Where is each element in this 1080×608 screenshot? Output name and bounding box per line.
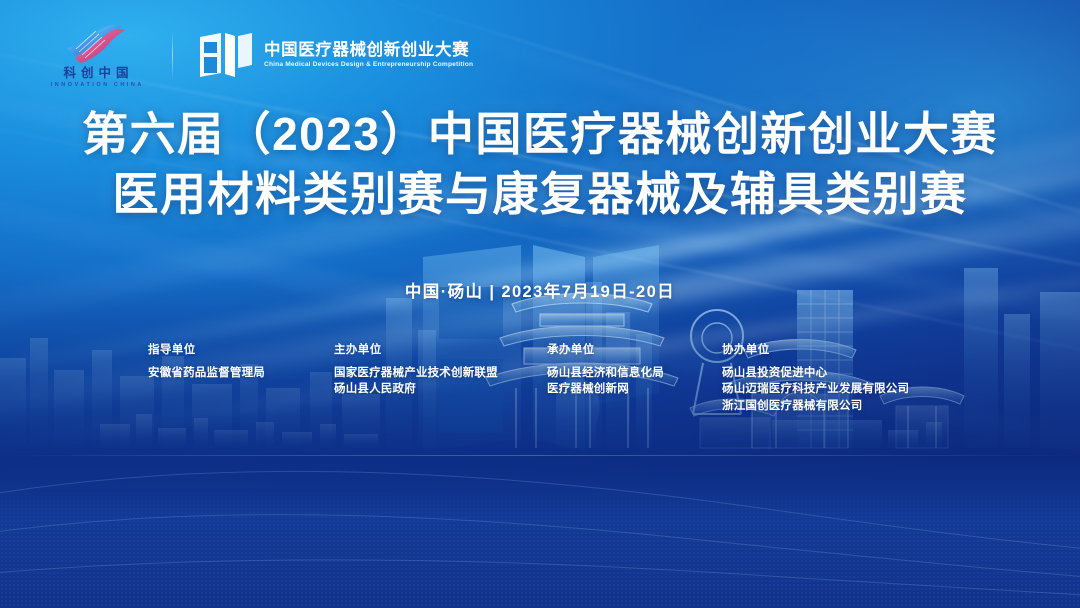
organizer-column-organizer: 承办单位 砀山县经济和信息化局 医疗器械创新网 — [547, 345, 722, 414]
logo-kechuang-cn-text: 科创中国 — [58, 67, 133, 80]
organizer-item: 砀山县投资促进中心 — [722, 365, 909, 382]
organizer-column-guidance: 指导单位 安徽省药品监督管理局 — [148, 345, 334, 414]
organizer-item: 国家医疗器械产业技术创新联盟 — [334, 365, 547, 382]
organizer-column-host: 主办单位 国家医疗器械产业技术创新联盟 砀山县人民政府 — [334, 345, 547, 414]
organizer-item: 砀山迈瑞医疗科技产业发展有限公司 — [722, 381, 909, 398]
organizer-columns: 指导单位 安徽省药品监督管理局 主办单位 国家医疗器械产业技术创新联盟 砀山县人… — [148, 345, 1020, 414]
logo-competition[interactable]: 中国医疗器械创新创业大赛 China Medical Devices Desig… — [199, 32, 473, 78]
title-line-1: 第六届（2023）中国医疗器械创新创业大赛 — [0, 104, 1080, 164]
organizer-item: 医疗器械创新网 — [547, 381, 722, 398]
dove-emblem-icon — [65, 22, 127, 64]
bottom-dot-texture — [0, 483, 1080, 608]
organizer-heading: 协办单位 — [722, 345, 909, 357]
open-book-door-icon — [199, 32, 253, 78]
logo-kechuang-china[interactable]: 科创中国 INNOVATION CHINA — [46, 22, 146, 88]
conference-banner: 科创中国 INNOVATION CHINA 中国医疗器械创新创业大赛 China… — [0, 0, 1080, 608]
organizer-item: 安徽省药品监督管理局 — [148, 365, 334, 382]
logo-competition-en-text: China Medical Devices Design & Entrepren… — [264, 62, 473, 69]
organizer-heading: 主办单位 — [334, 345, 547, 357]
logo-row: 科创中国 INNOVATION CHINA 中国医疗器械创新创业大赛 China… — [46, 22, 473, 88]
page-title: 第六届（2023）中国医疗器械创新创业大赛 医用材料类别赛与康复器械及辅具类别赛 — [0, 104, 1080, 224]
event-location-date: 中国·砀山 | 2023年7月19日-20日 — [0, 278, 1080, 302]
organizer-heading: 承办单位 — [547, 345, 722, 357]
logo-divider — [172, 32, 173, 78]
logo-kechuang-en-text: INNOVATION CHINA — [48, 83, 144, 88]
organizer-column-coorganizer: 协办单位 砀山县投资促进中心 砀山迈瑞医疗科技产业发展有限公司 浙江国创医疗器械… — [722, 345, 909, 414]
organizer-item: 浙江国创医疗器械有限公司 — [722, 398, 909, 415]
organizer-item: 砀山县人民政府 — [334, 381, 547, 398]
organizer-heading: 指导单位 — [148, 345, 334, 357]
title-line-2: 医用材料类别赛与康复器械及辅具类别赛 — [0, 164, 1080, 224]
organizer-item: 砀山县经济和信息化局 — [547, 365, 722, 382]
logo-competition-cn-text: 中国医疗器械创新创业大赛 — [264, 41, 473, 59]
